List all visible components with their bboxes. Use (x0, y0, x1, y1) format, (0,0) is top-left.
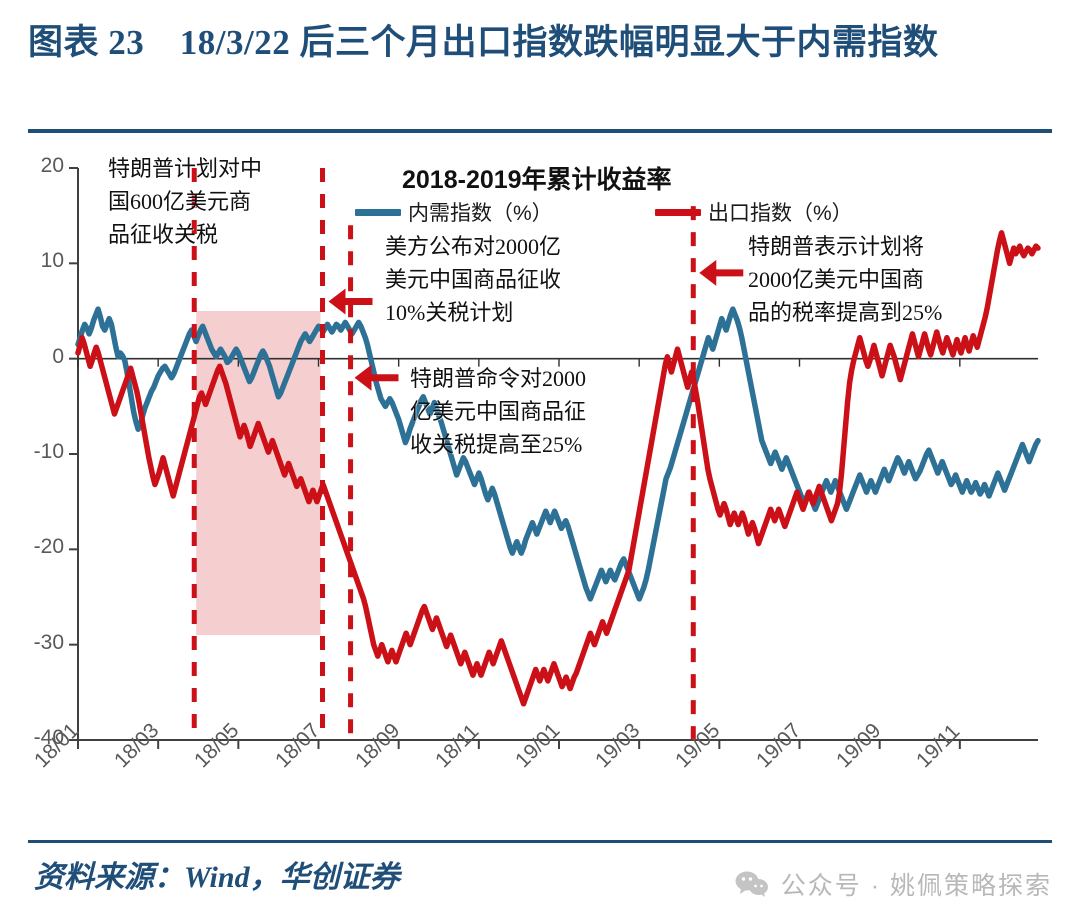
footer-divider (28, 840, 1052, 843)
legend-label-export: 出口指数（%） (708, 197, 853, 227)
source-note: 资料来源：Wind，华创证券 (34, 852, 400, 896)
chart-container: 2018-2019年累计收益率 内需指数（%） 出口指数（%） 特朗普计划对中 … (0, 140, 1080, 840)
y-tick-label: 10 (16, 249, 64, 273)
figure-header: 图表 23 18/3/22 后三个月出口指数跌幅明显大于内需指数 (0, 0, 1080, 68)
y-tick-label: -10 (16, 440, 64, 464)
header-divider (28, 129, 1052, 133)
watermark-label: 公众号 · 姚佩策略探索 (781, 866, 1052, 902)
y-tick-label: -30 (16, 631, 64, 655)
legend-item-domestic[interactable]: 内需指数（%） (355, 197, 553, 227)
annotation-arrow (699, 260, 743, 286)
legend-swatch-domestic (355, 209, 401, 216)
page-title: 图表 23 18/3/22 后三个月出口指数跌幅明显大于内需指数 (28, 18, 1052, 68)
y-tick-label: -20 (16, 535, 64, 559)
legend-item-export[interactable]: 出口指数（%） (655, 197, 853, 227)
wechat-icon (735, 871, 769, 897)
y-tick-label: 20 (16, 154, 64, 178)
legend-label-domestic: 内需指数（%） (408, 197, 553, 227)
y-tick-label: 0 (16, 345, 64, 369)
annotation-tariff-200b-25pct-plan: 特朗普表示计划将 2000亿美元中国商 品的税率提高到25% (748, 230, 998, 329)
chart-title: 2018-2019年累计收益率 (402, 160, 672, 196)
annotation-tariff-200b-10pct: 美方公布对2000亿 美元中国商品征收 10%关税计划 (385, 230, 610, 329)
watermark: 公众号 · 姚佩策略探索 (735, 866, 1052, 902)
legend-swatch-export (655, 209, 701, 216)
annotation-tariff-60b: 特朗普计划对中 国600亿美元商 品征收关税 (108, 152, 333, 251)
annotation-tariff-200b-25pct-order: 特朗普命令对2000 亿美元中国商品征 收关税提高至25% (410, 362, 640, 461)
